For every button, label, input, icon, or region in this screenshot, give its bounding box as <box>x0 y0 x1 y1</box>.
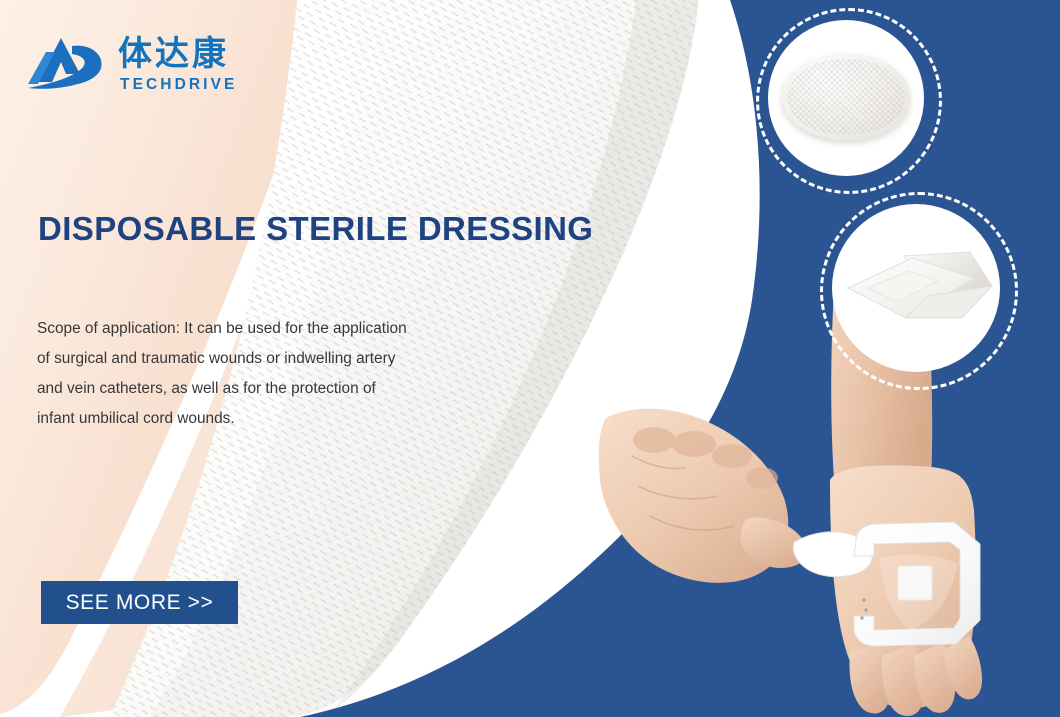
description-line-3: and vein catheters, as well as for the p… <box>37 374 507 404</box>
page-title: DISPOSABLE STERILE DRESSING <box>38 210 593 248</box>
oval-dressing-pad <box>782 54 910 140</box>
oval-dressing-pad-inset <box>756 8 942 194</box>
description-line-1: Scope of application: It can be used for… <box>37 314 507 344</box>
square-dressing-pad-inset <box>820 192 1020 392</box>
description-line-4: infant umbilical cord wounds. <box>37 404 507 434</box>
description-line-2: of surgical and traumatic wounds or indw… <box>37 344 507 374</box>
see-more-button[interactable]: SEE MORE >> <box>41 581 238 624</box>
mountain-wave-logo-icon <box>22 34 108 96</box>
description-text: Scope of application: It can be used for… <box>37 314 507 434</box>
brand-name-en: TECHDRIVE <box>120 77 237 93</box>
square-dressing-pad <box>842 244 996 336</box>
brand-name-cn: 体达康 <box>118 37 237 71</box>
brand-logo[interactable]: 体达康 TECHDRIVE <box>22 34 237 96</box>
product-banner: 体达康 TECHDRIVE DISPOSABLE STERILE DRESSIN… <box>0 0 1060 717</box>
